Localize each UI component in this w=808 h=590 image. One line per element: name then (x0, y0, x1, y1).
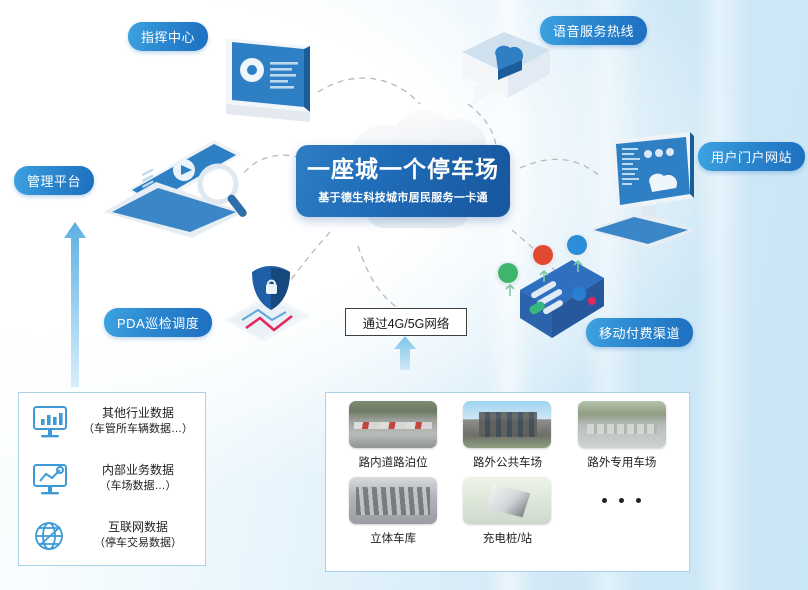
scene-cell[interactable]: 立体车库 (336, 477, 450, 551)
charging-station-photo (463, 477, 551, 524)
network-callout-box: 通过4G/5G网络 (345, 308, 467, 336)
central-banner: 一座城一个停车场 基于德生科技城市居民服务一卡通 (296, 145, 510, 217)
parking-scenes-grid: 路内道路泊位 路外公共车场 路外专用车场 立体车库 充电桩/站 (326, 393, 689, 551)
data-source-row[interactable]: 内部业务数据 （车场数据…） (19, 450, 205, 507)
scene-caption: 充电桩/站 (483, 530, 532, 546)
command-center-monitor-illustration (218, 18, 338, 126)
parking-scenes-panel: 路内道路泊位 路外公共车场 路外专用车场 立体车库 充电桩/站 (325, 392, 690, 572)
data-flow-up-arrow-icon (62, 222, 88, 387)
data-source-title: 其他行业数据 (102, 405, 174, 422)
data-source-sub: （车管所车辆数据…） (83, 422, 193, 438)
pda-patrol-illustration (212, 258, 322, 350)
off-street-public-lot-photo (463, 401, 551, 448)
label-command-center[interactable]: 指挥中心 (128, 22, 208, 51)
label-management-platform[interactable]: 管理平台 (14, 166, 94, 195)
scene-cell[interactable]: 路内道路泊位 (336, 401, 450, 475)
off-street-private-lot-photo (578, 401, 666, 448)
scene-more-cell (565, 477, 679, 551)
scene-cell[interactable]: 路外公共车场 (450, 401, 564, 475)
data-source-title: 内部业务数据 (102, 462, 174, 479)
scene-caption: 路外公共车场 (473, 454, 542, 470)
scene-cell[interactable]: 充电桩/站 (450, 477, 564, 551)
banner-title: 一座城一个停车场 (307, 157, 499, 182)
on-street-parking-photo (349, 401, 437, 448)
scene-caption: 立体车库 (370, 530, 416, 546)
network-up-arrow-icon (392, 336, 418, 370)
monitor-bar-chart-icon (29, 402, 71, 442)
data-source-sub: （停车交易数据） (94, 536, 182, 552)
data-source-title: 互联网数据 (108, 519, 168, 536)
label-mobile-payment[interactable]: 移动付费渠道 (586, 318, 693, 347)
label-user-portal[interactable]: 用户门户网站 (698, 142, 805, 171)
data-sources-panel: 其他行业数据 （车管所车辆数据…） 内部业务数据 （车场数据…） (18, 392, 206, 566)
banner-subtitle: 基于德生科技城市居民服务一卡通 (318, 189, 488, 205)
scene-caption: 路内道路泊位 (359, 454, 428, 470)
management-laptop-illustration (96, 128, 256, 240)
infographic-stage: 一座城一个停车场 基于德生科技城市居民服务一卡通 指挥中心 语音服务热线 管理平… (0, 0, 808, 590)
monitor-line-chart-icon (29, 459, 71, 499)
data-source-row[interactable]: 互联网数据 （停车交易数据） (19, 507, 205, 564)
ellipsis-icon (602, 477, 641, 524)
label-pda-patrol[interactable]: PDA巡检调度 (104, 308, 212, 337)
label-voice-hotline[interactable]: 语音服务热线 (540, 16, 647, 45)
scene-cell[interactable]: 路外专用车场 (565, 401, 679, 475)
data-source-sub: （车场数据…） (100, 479, 177, 495)
globe-network-icon (29, 516, 71, 556)
data-source-row[interactable]: 其他行业数据 （车管所车辆数据…） (19, 393, 205, 450)
mechanical-garage-photo (349, 477, 437, 524)
scene-caption: 路外专用车场 (587, 454, 656, 470)
